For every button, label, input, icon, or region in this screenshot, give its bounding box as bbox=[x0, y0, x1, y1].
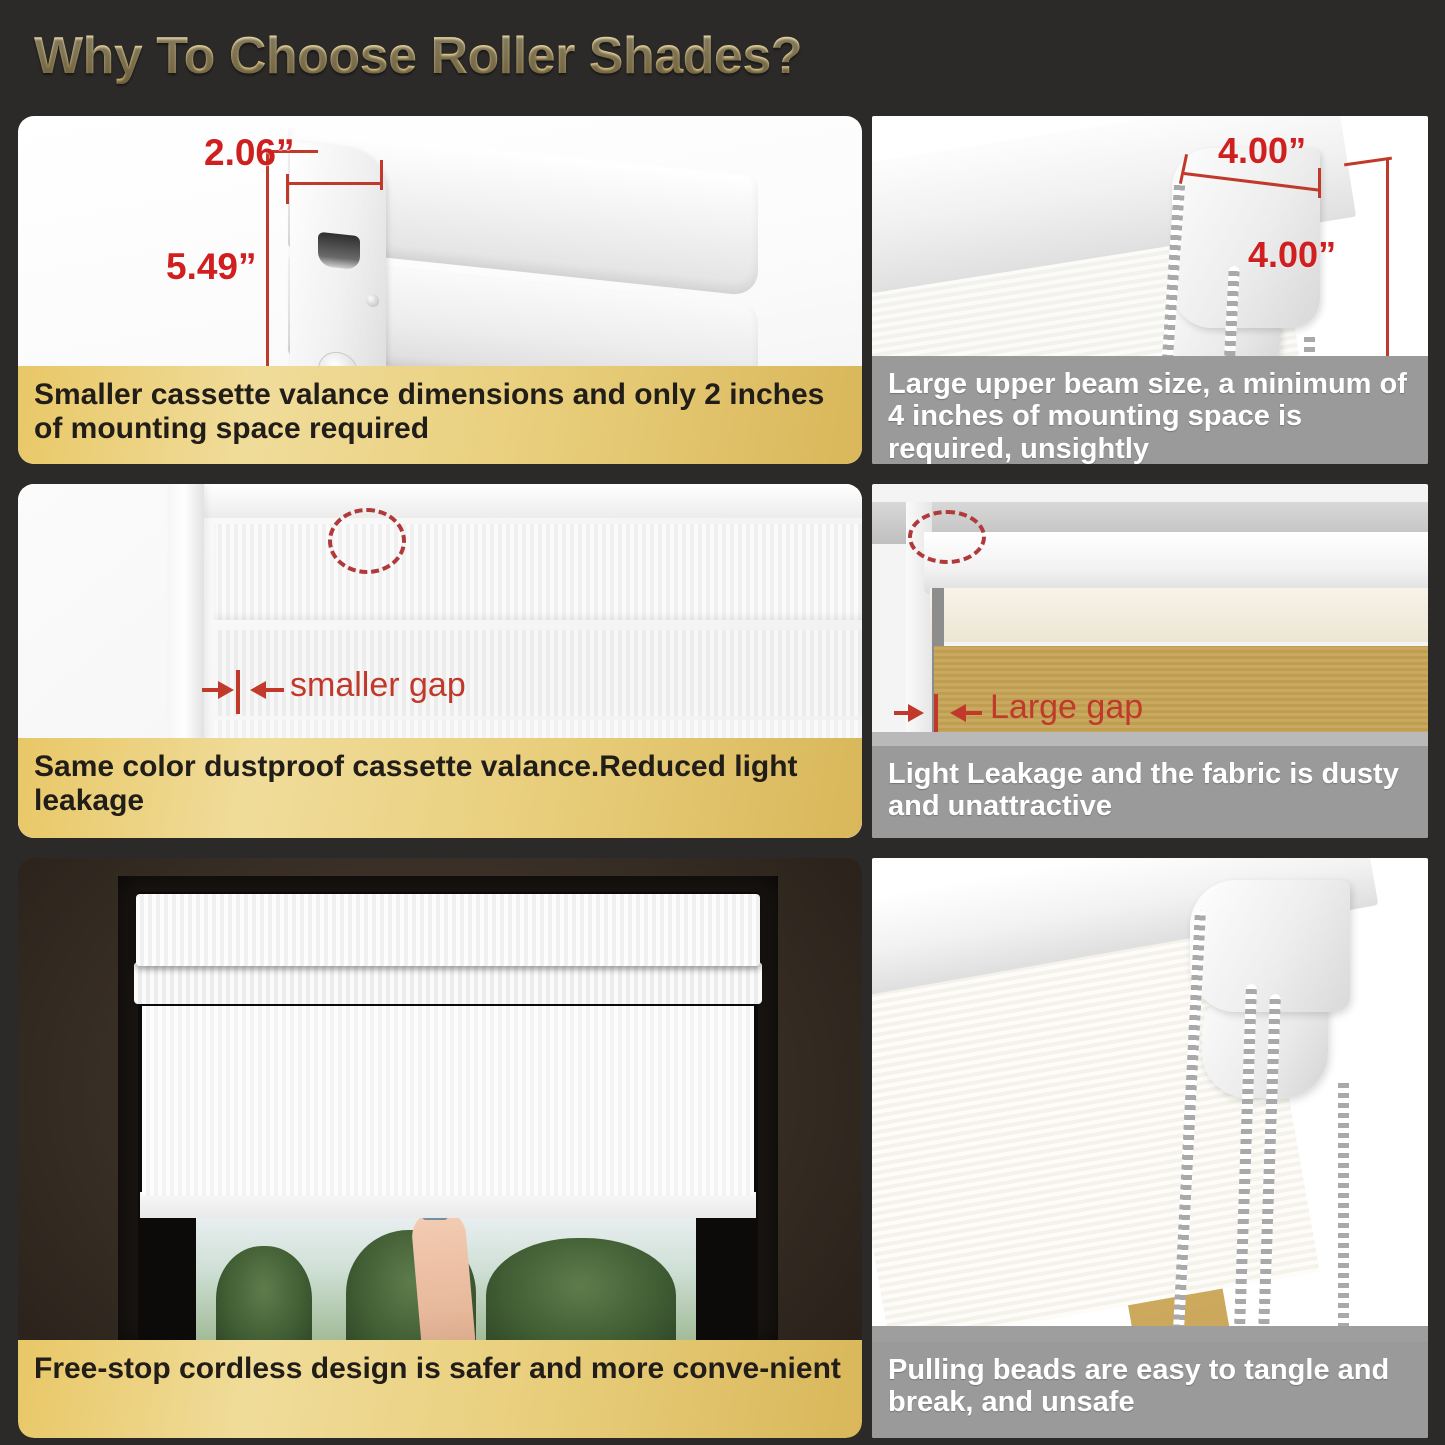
shade-fabric bbox=[142, 1006, 754, 1196]
beads-floor-line bbox=[872, 1326, 1428, 1342]
panel-light-leakage[interactable]: Large gap Light Leakage and the fabric i… bbox=[872, 484, 1428, 838]
cassette-upper bbox=[136, 894, 760, 966]
gap-marker bbox=[934, 694, 938, 732]
gap-arrow-left-icon bbox=[908, 704, 924, 722]
gap-arrow-left-icon bbox=[218, 681, 234, 699]
panel-pulling-beads[interactable]: Pulling beads are easy to tangle and bre… bbox=[872, 858, 1428, 1438]
cassette-lower bbox=[134, 962, 762, 1004]
panel-cassette-valance[interactable]: 5.49” 2.06” Smaller cassette valance dim… bbox=[18, 116, 862, 464]
width-dim-tick-right bbox=[380, 160, 383, 190]
cassette-upper bbox=[214, 524, 862, 620]
highlight-ellipse-icon bbox=[328, 508, 406, 574]
page-title: Why To Choose Roller Shades? bbox=[34, 26, 802, 86]
beam-height-tick-top bbox=[1344, 157, 1392, 167]
caption-dustproof-cassette: Same color dustproof cassette valance.Re… bbox=[18, 738, 862, 838]
leakage-beam-lower bbox=[930, 588, 1428, 642]
gap-arrow-right-stem bbox=[266, 688, 284, 692]
gap-arrow-right-stem bbox=[966, 711, 982, 715]
panel-dustproof-cassette[interactable]: smaller gap Same color dustproof cassett… bbox=[18, 484, 862, 838]
valance-screw bbox=[366, 293, 379, 307]
width-dim-line bbox=[286, 182, 382, 185]
gap-arrow-right-icon bbox=[950, 704, 966, 722]
leakage-floor-line bbox=[872, 732, 1428, 746]
panel-cordless-design[interactable]: Free-stop cordless design is safer and m… bbox=[18, 858, 862, 1438]
comparison-grid: 5.49” 2.06” Smaller cassette valance dim… bbox=[0, 112, 1445, 1445]
smaller-gap-label: smaller gap bbox=[290, 666, 466, 705]
height-dim-line bbox=[266, 152, 269, 402]
leakage-beam bbox=[924, 532, 1428, 594]
gap-marker bbox=[236, 670, 240, 714]
tree-left bbox=[216, 1246, 312, 1346]
tree-right bbox=[486, 1238, 676, 1346]
caption-pulling-beads: Pulling beads are easy to tangle and bre… bbox=[872, 1342, 1428, 1438]
height-dimension-label: 5.49” bbox=[166, 246, 257, 288]
width-dim-tick-left bbox=[286, 174, 289, 204]
bead-chain-right bbox=[1338, 1078, 1349, 1332]
caption-cordless-design: Free-stop cordless design is safer and m… bbox=[18, 1340, 862, 1438]
panel-large-upper-beam[interactable]: 4.00” 4.00” Large upper beam size, a min… bbox=[872, 116, 1428, 464]
window-head-jamb bbox=[168, 484, 862, 518]
caption-light-leakage: Light Leakage and the fabric is dusty an… bbox=[872, 746, 1428, 838]
caption-cassette-valance: Smaller cassette valance dimensions and … bbox=[18, 366, 862, 464]
width-dimension-label: 2.06” bbox=[204, 132, 295, 174]
beam-width-label: 4.00” bbox=[1218, 130, 1306, 172]
highlight-ellipse-icon bbox=[908, 510, 986, 564]
beam-height-line bbox=[1386, 160, 1389, 360]
page-header: Why To Choose Roller Shades? bbox=[0, 0, 1445, 112]
gap-arrow-right-icon bbox=[250, 681, 266, 699]
caption-large-upper-beam: Large upper beam size, a minimum of 4 in… bbox=[872, 356, 1428, 464]
valance-slot bbox=[318, 232, 360, 270]
beam-width-tick-right bbox=[1318, 168, 1321, 198]
beam-height-label: 4.00” bbox=[1248, 234, 1336, 276]
beads-upper-bracket bbox=[1190, 880, 1350, 1012]
large-gap-label: Large gap bbox=[990, 688, 1143, 727]
